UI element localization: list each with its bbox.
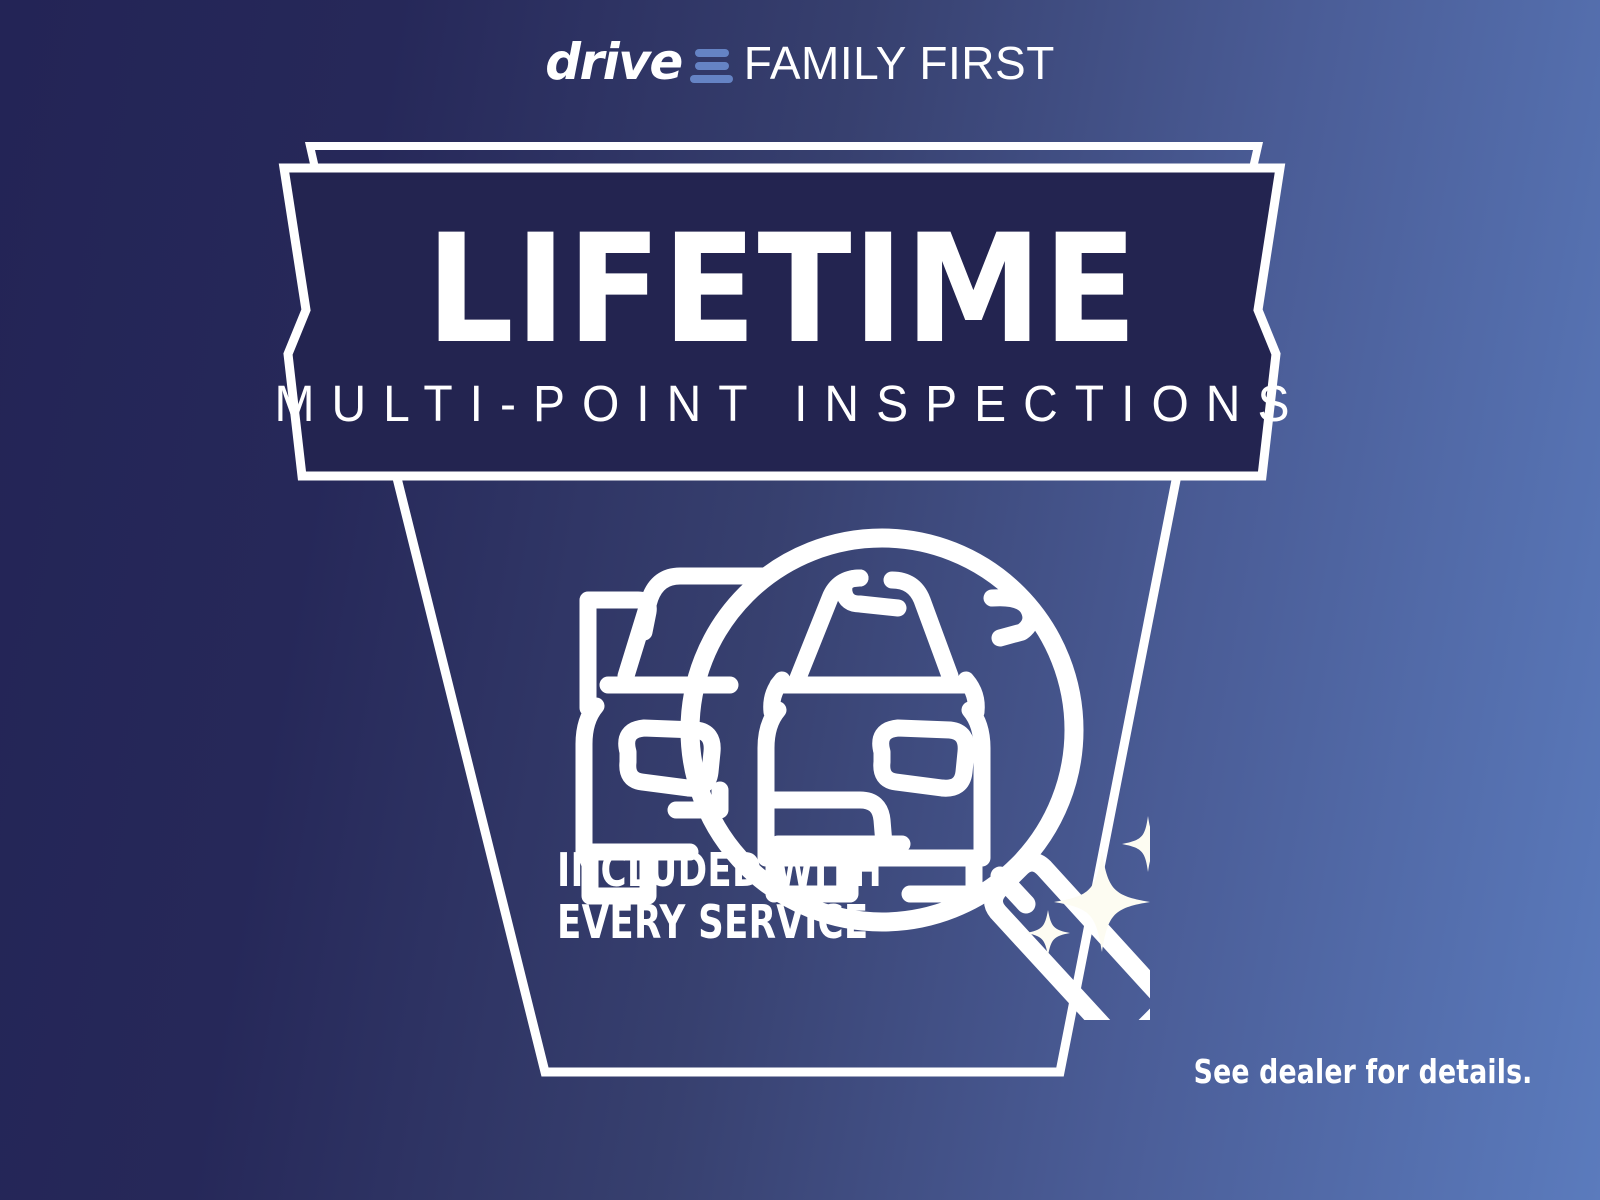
brand-lockup: drive FAMILY FIRST <box>0 32 1600 94</box>
disclaimer-text: See dealer for details. <box>1193 1052 1532 1091</box>
brand-tagline: FAMILY FIRST <box>744 40 1055 86</box>
brand-wordmark: drive <box>545 37 682 87</box>
included-line-1: INCLUDED WITH <box>557 845 882 897</box>
three-bar-logo-icon <box>690 49 733 83</box>
subheadline: MULTI-POINT INSPECTIONS <box>258 379 1307 430</box>
headlight-right <box>881 728 966 788</box>
included-line-2: EVERY SERVICE <box>557 897 882 949</box>
lifetime-banner: LIFETIME MULTI-POINT INSPECTIONS <box>262 138 1302 494</box>
headline: LIFETIME <box>426 226 1138 355</box>
included-text: INCLUDED WITH EVERY SERVICE <box>557 845 882 948</box>
promo-graphic: drive FAMILY FIRST <box>0 0 1600 1200</box>
